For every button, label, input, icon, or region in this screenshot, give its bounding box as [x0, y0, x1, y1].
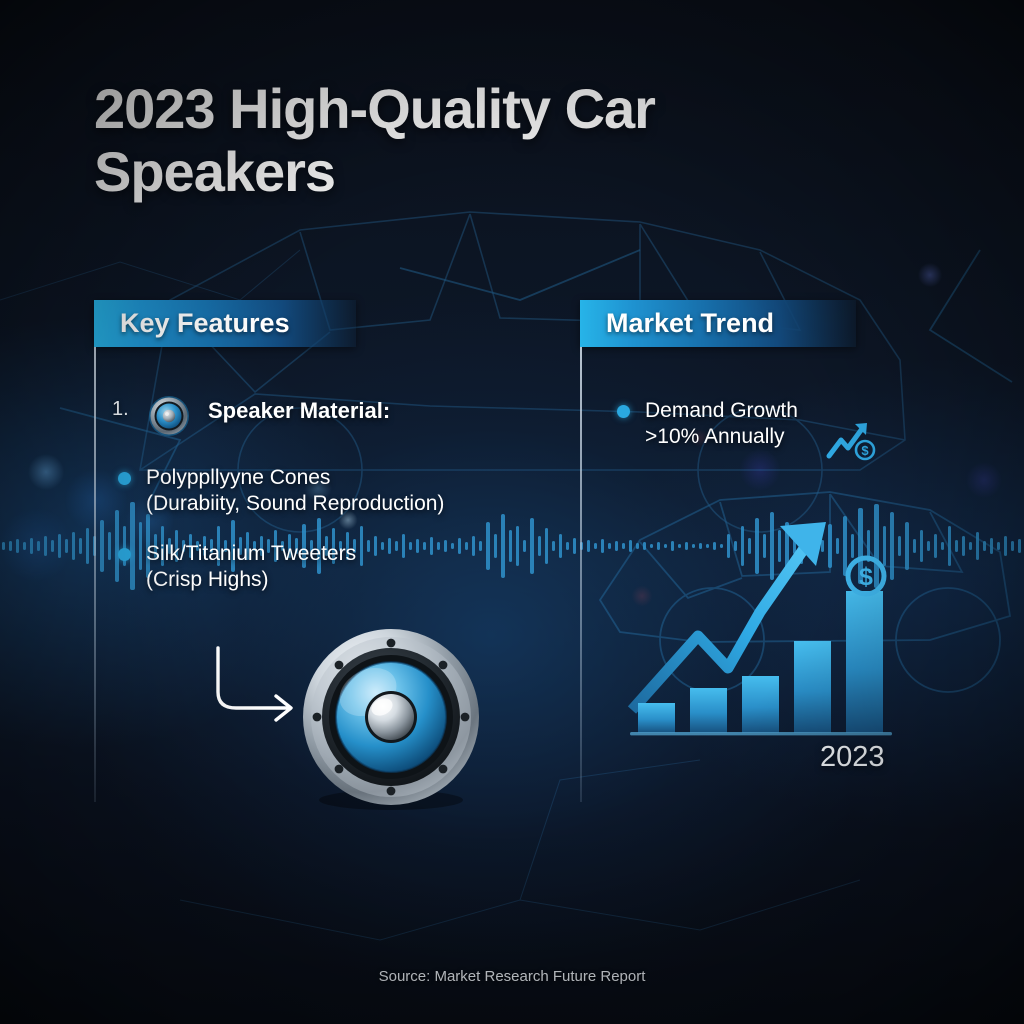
bullet-dot-icon	[617, 405, 630, 418]
car-speaker-woofer-image	[296, 622, 486, 812]
bar-2	[742, 676, 779, 733]
list-item: Demand Growth >10% Annually	[617, 398, 798, 451]
list-item: Silk/Titanium Tweeters (Crisp Highs)	[118, 541, 356, 594]
bar-3	[794, 641, 831, 733]
dollar-coin-icon: $	[848, 558, 884, 594]
key-features-item-number: 1.	[112, 398, 129, 421]
bullet-dot-icon	[118, 548, 131, 561]
bullet-line-1: Demand Growth	[645, 399, 798, 422]
right-panel-divider-line	[580, 347, 582, 802]
source-attribution: Source: Market Research Future Report	[0, 968, 1024, 985]
left-panel-divider-line	[94, 347, 96, 802]
chart-baseline	[630, 732, 892, 735]
list-item: Polyppllyyne Cones (Durabiity, Sound Rep…	[118, 465, 444, 518]
page-title: 2023 High-Quality Car Speakers	[94, 78, 854, 203]
svg-text:$: $	[861, 443, 869, 458]
curved-arrow-right-icon	[196, 646, 306, 738]
bullet-text: Silk/Titanium Tweeters (Crisp Highs)	[146, 541, 356, 594]
key-features-header-bar: Key Features	[94, 300, 356, 347]
panel-key-features: Key Features	[94, 300, 356, 347]
bar-0	[638, 703, 675, 733]
chart-year-label: 2023	[820, 741, 885, 774]
market-trend-header-label: Market Trend	[580, 308, 774, 339]
key-features-header-label: Key Features	[94, 308, 290, 339]
bullet-line-2: >10% Annually	[645, 424, 798, 450]
speaker-icon	[148, 395, 190, 437]
market-trend-header-bar: Market Trend	[580, 300, 856, 347]
bullet-text: Demand Growth >10% Annually	[645, 398, 798, 451]
trending-up-dollar-icon: $	[826, 418, 876, 462]
bullet-line-2: (Durabiity, Sound Reproduction)	[146, 491, 444, 517]
key-features-item-label: Speaker Material:	[208, 398, 390, 424]
bullet-line-2: (Crisp Highs)	[146, 567, 356, 593]
panel-market-trend: Market Trend	[580, 300, 856, 347]
bullet-line-1: Polyppllyyne Cones	[146, 466, 330, 489]
bar-1	[690, 688, 727, 733]
infographic-canvas: 2023 High-Quality Car Speakers Key Featu…	[0, 0, 1024, 1024]
bullet-text: Polyppllyyne Cones (Durabiity, Sound Rep…	[146, 465, 444, 518]
market-trend-bar-chart: $	[620, 520, 910, 745]
bar-4	[846, 591, 883, 733]
svg-text:$: $	[859, 563, 873, 591]
bullet-line-1: Silk/Titanium Tweeters	[146, 542, 356, 565]
bullet-dot-icon	[118, 472, 131, 485]
